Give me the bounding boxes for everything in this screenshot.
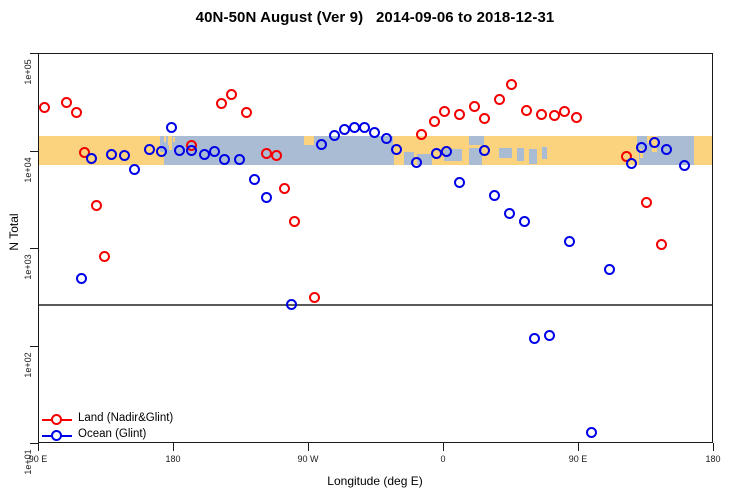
x-axis-label: Longitude (deg E) — [0, 474, 750, 488]
data-point-ocean — [316, 139, 327, 150]
data-point-land — [429, 116, 440, 127]
chart-figure: 40N-50N August (Ver 9) 2014-09-06 to 201… — [0, 0, 750, 500]
map-island-speck — [164, 136, 166, 142]
legend-label: Land (Nadir&Glint) — [78, 412, 173, 424]
y-tick-label: 1e+05 — [23, 52, 33, 92]
legend-label: Ocean (Glint) — [78, 428, 146, 440]
map-coastline-detail — [529, 149, 537, 164]
data-point-ocean — [166, 122, 177, 133]
data-point-ocean — [86, 153, 97, 164]
x-tick-mark — [443, 443, 444, 451]
data-point-land — [656, 239, 667, 250]
data-point-land — [479, 113, 490, 124]
data-point-ocean — [661, 144, 672, 155]
y-tick-label: 1e+03 — [23, 247, 33, 287]
data-point-ocean — [249, 174, 260, 185]
data-point-land — [494, 94, 505, 105]
data-point-land — [39, 102, 50, 113]
world-map-band — [39, 136, 712, 166]
data-point-land — [71, 107, 82, 118]
data-point-ocean — [564, 236, 575, 247]
data-point-ocean — [76, 273, 87, 284]
data-point-ocean — [359, 122, 370, 133]
data-point-land — [309, 292, 320, 303]
map-coastline-detail — [542, 147, 547, 159]
data-point-ocean — [441, 146, 452, 157]
data-point-ocean — [381, 133, 392, 144]
x-tick-mark — [578, 443, 579, 451]
data-point-ocean — [649, 137, 660, 148]
plot-area — [38, 53, 713, 443]
data-point-land — [61, 97, 72, 108]
data-point-ocean — [369, 127, 380, 138]
data-point-land — [279, 183, 290, 194]
data-point-land — [536, 109, 547, 120]
data-point-land — [559, 106, 570, 117]
data-point-land — [91, 200, 102, 211]
data-point-land — [241, 107, 252, 118]
y-axis-label: N Total — [7, 192, 21, 272]
data-point-ocean — [679, 160, 690, 171]
data-point-land — [469, 101, 480, 112]
legend-marker-icon — [51, 414, 62, 425]
data-point-ocean — [119, 150, 130, 161]
data-point-ocean — [106, 149, 117, 160]
x-tick-label: 90 E — [548, 454, 608, 464]
data-point-land — [521, 105, 532, 116]
data-point-ocean — [636, 142, 647, 153]
y-tick-label: 1e+02 — [23, 345, 33, 385]
x-tick-label: 180 — [683, 454, 743, 464]
x-tick-label: 180 — [143, 454, 203, 464]
data-point-ocean — [339, 124, 350, 135]
data-point-ocean — [529, 333, 540, 344]
legend-item: Land (Nadir&Glint) — [42, 412, 222, 428]
data-point-land — [289, 216, 300, 227]
data-point-ocean — [156, 146, 167, 157]
x-tick-label: 90 W — [278, 454, 338, 464]
data-point-land — [216, 98, 227, 109]
map-landmass — [304, 136, 314, 145]
data-point-ocean — [604, 264, 615, 275]
data-point-ocean — [349, 122, 360, 133]
map-coastline-detail — [517, 148, 525, 161]
data-point-ocean — [209, 146, 220, 157]
map-island-speck — [173, 137, 175, 142]
data-point-land — [641, 197, 652, 208]
map-landmass — [694, 136, 713, 166]
data-point-land — [439, 106, 450, 117]
data-point-ocean — [261, 192, 272, 203]
x-tick-label: 0 — [413, 454, 473, 464]
data-point-ocean — [234, 154, 245, 165]
data-point-ocean — [129, 164, 140, 175]
data-point-land — [226, 89, 237, 100]
map-coastline-detail — [499, 148, 512, 157]
chart-title: 40N-50N August (Ver 9) 2014-09-06 to 201… — [0, 9, 750, 26]
data-point-ocean — [519, 216, 530, 227]
data-point-ocean — [626, 158, 637, 169]
x-tick-mark — [308, 443, 309, 451]
data-point-ocean — [144, 144, 155, 155]
data-point-land — [454, 109, 465, 120]
data-point-ocean — [174, 145, 185, 156]
legend-marker-icon — [51, 430, 62, 441]
data-point-ocean — [411, 157, 422, 168]
x-tick-mark — [713, 443, 714, 451]
data-point-ocean — [504, 208, 515, 219]
x-tick-label: 90 E — [8, 454, 68, 464]
data-point-ocean — [489, 190, 500, 201]
data-point-ocean — [199, 149, 210, 160]
data-point-ocean — [329, 130, 340, 141]
data-point-land — [416, 129, 427, 140]
data-point-ocean — [479, 145, 490, 156]
data-point-land — [506, 79, 517, 90]
data-point-land — [571, 112, 582, 123]
x-tick-mark — [38, 443, 39, 451]
data-point-ocean — [391, 144, 402, 155]
data-point-ocean — [219, 154, 230, 165]
x-tick-mark — [173, 443, 174, 451]
data-point-ocean — [454, 177, 465, 188]
map-island-speck — [169, 145, 172, 150]
legend-item: Ocean (Glint) — [42, 428, 222, 444]
data-point-ocean — [286, 299, 297, 310]
data-point-ocean — [544, 330, 555, 341]
data-point-land — [99, 251, 110, 262]
chart-legend: Land (Nadir&Glint)Ocean (Glint) — [42, 412, 222, 444]
data-point-land — [549, 110, 560, 121]
y-tick-label: 1e+04 — [23, 150, 33, 190]
data-point-ocean — [586, 427, 597, 438]
threshold-line — [39, 304, 712, 306]
